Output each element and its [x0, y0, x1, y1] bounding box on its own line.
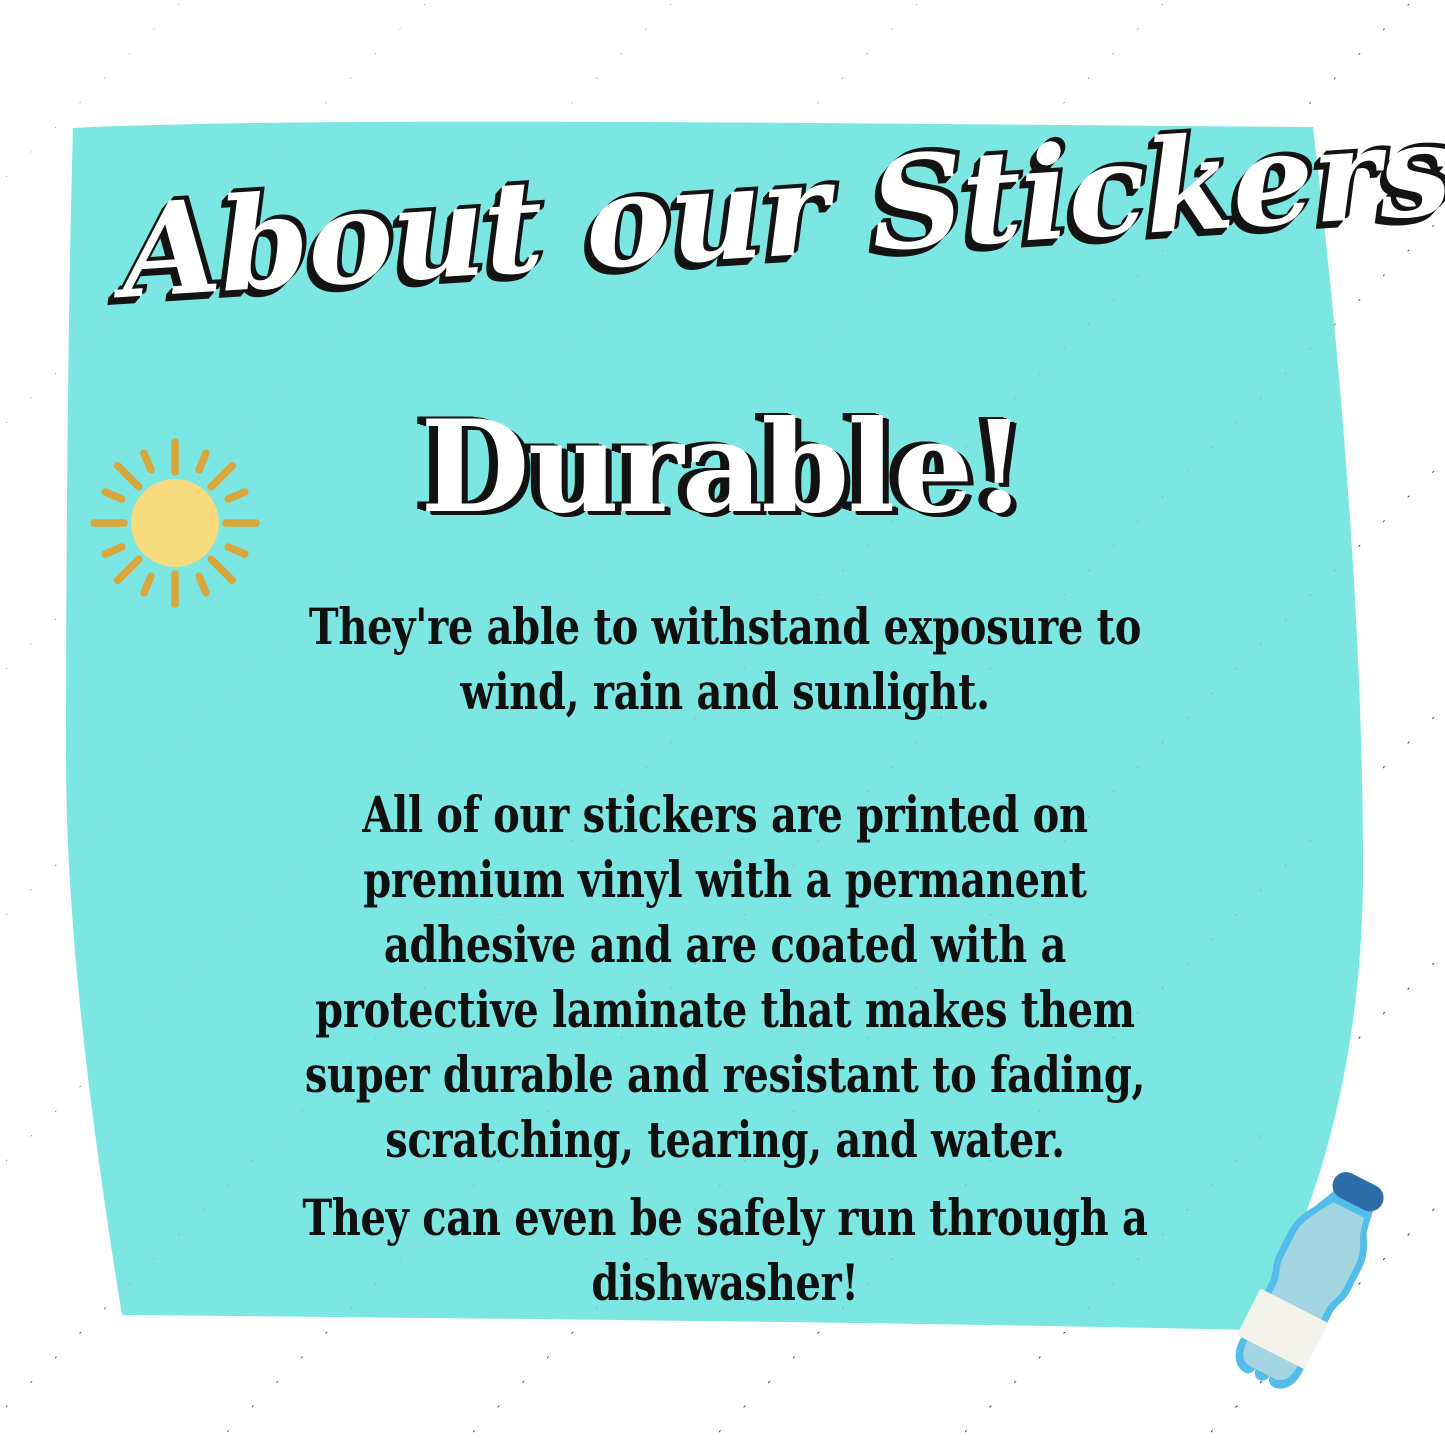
page-title: About our Stickers: [117, 110, 1333, 320]
body-paragraph-weather: They're able to withstand exposure to wi…: [283, 594, 1168, 724]
body-paragraph-dishwasher: They can even be safely run through a di…: [283, 1185, 1168, 1315]
sticker-info-card: About our Stickers Durable! They're able…: [0, 0, 1445, 1445]
body-paragraph-materials: All of our stickers are printed on premi…: [283, 782, 1168, 1172]
sun-icon: [86, 434, 264, 612]
water-bottle-icon: [1212, 1160, 1402, 1425]
